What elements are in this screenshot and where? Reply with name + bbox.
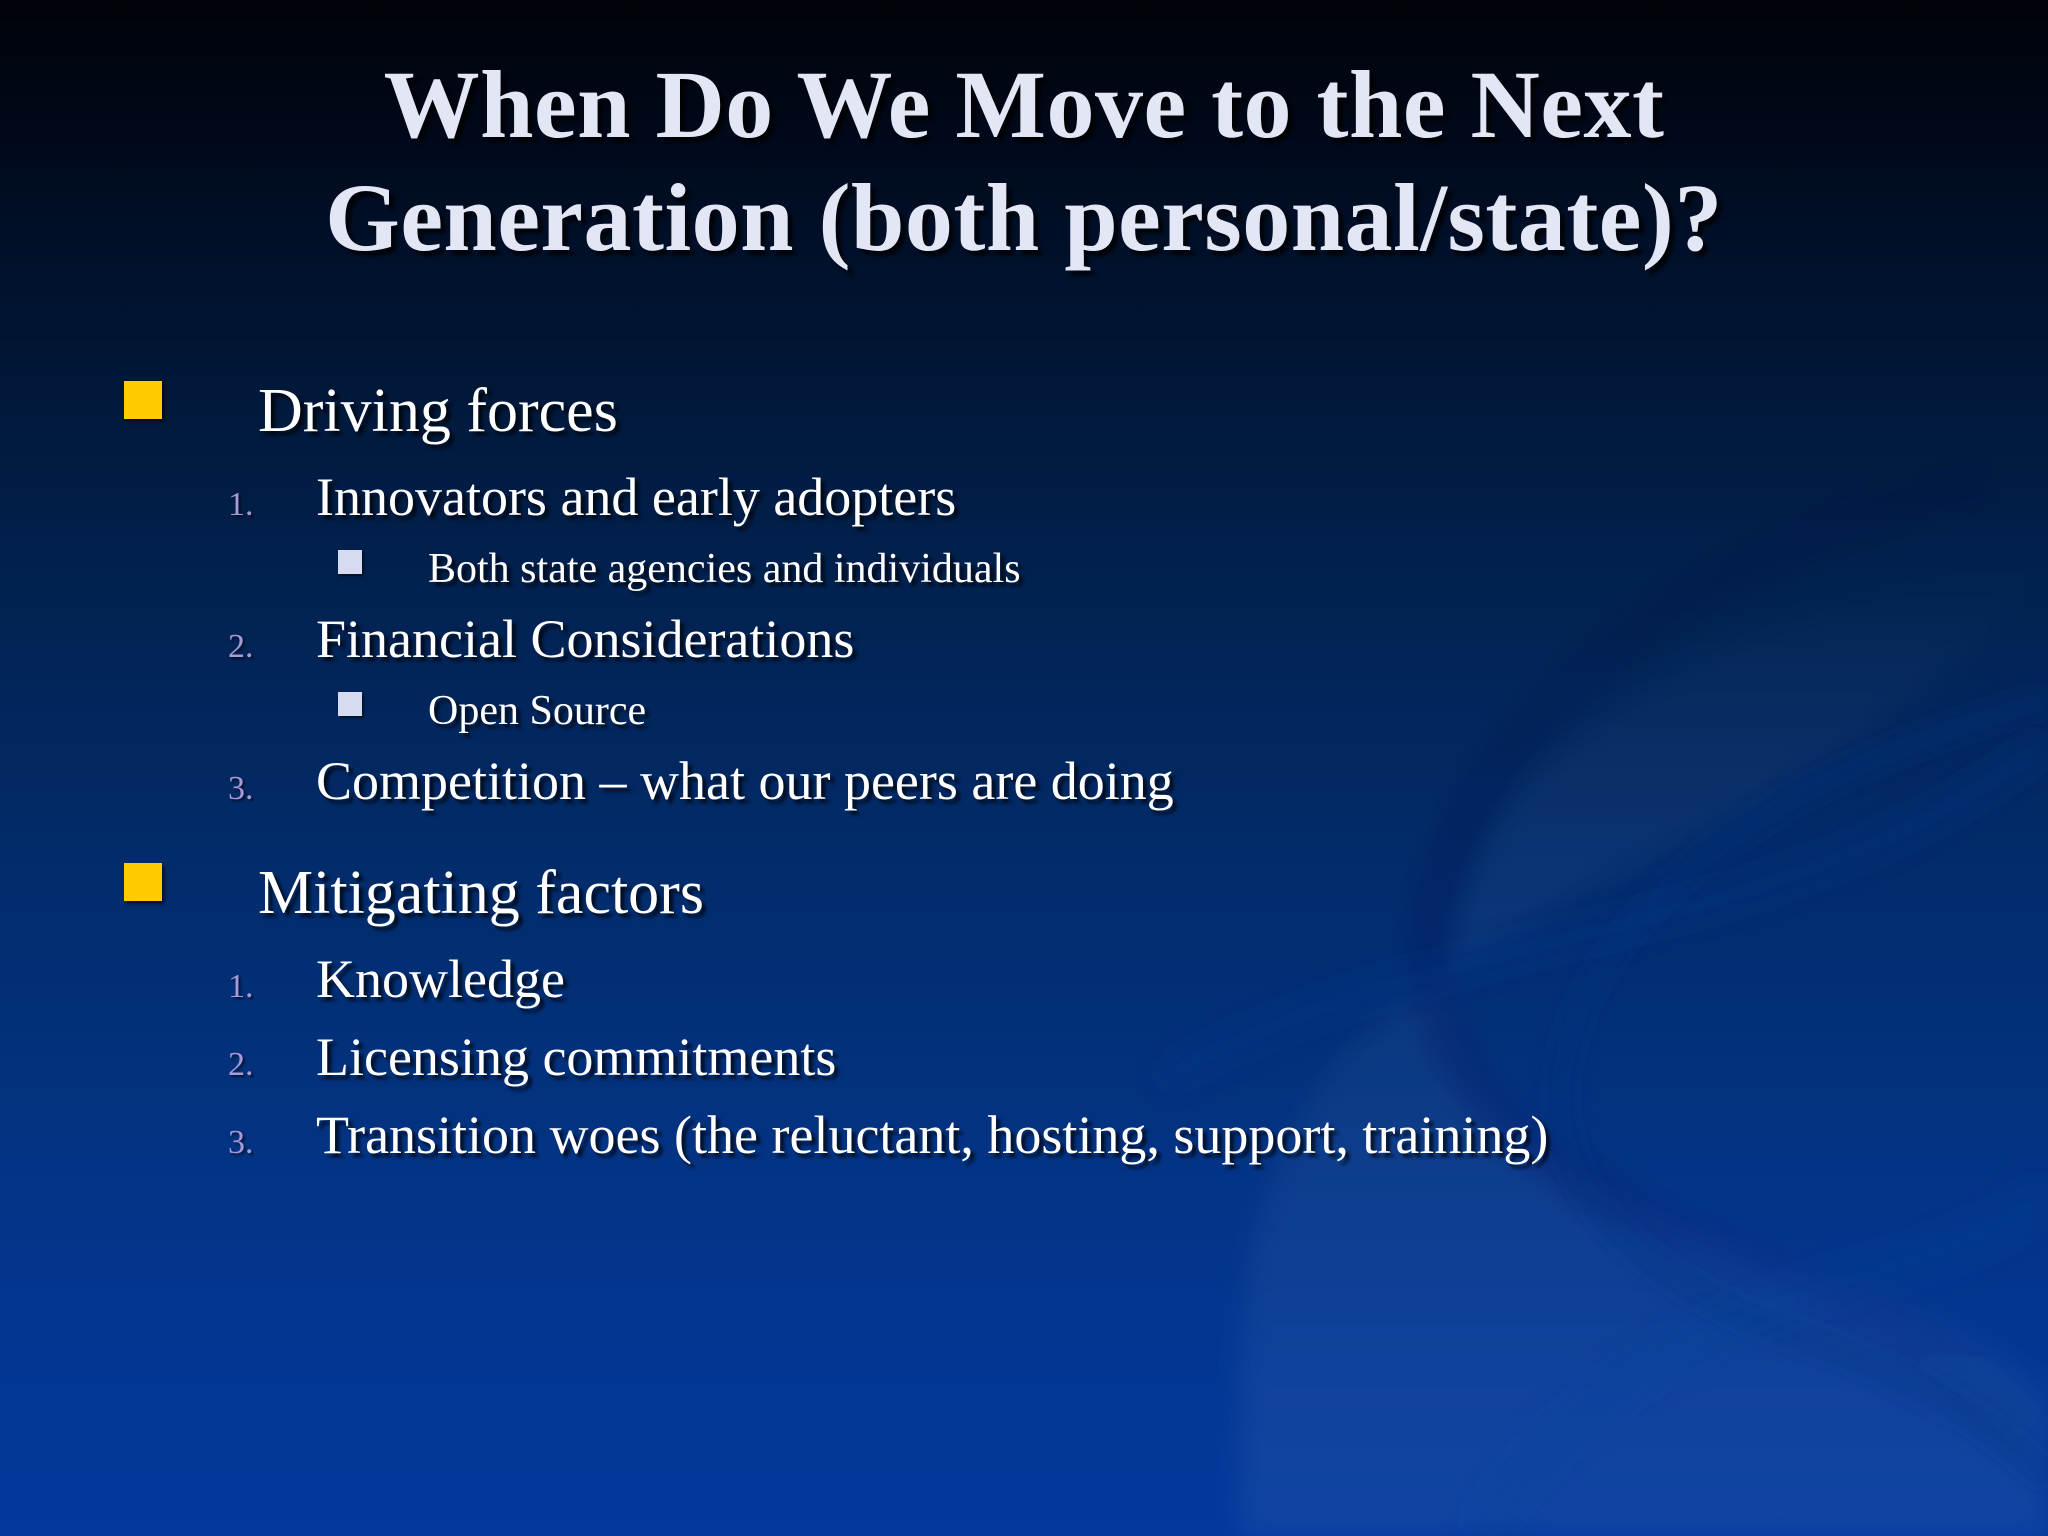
bullet-label: Both state agencies and individuals: [428, 548, 1021, 590]
list-number: 2.: [228, 630, 264, 664]
bullet-level1-mitigating-factors: Mitigating factors: [0, 862, 2048, 924]
bullet-level2-knowledge: 1. Knowledge: [0, 952, 2048, 1006]
section-spacer: [0, 832, 2048, 862]
list-number: 3.: [228, 1126, 264, 1160]
lavender-square-bullet-icon: [338, 692, 362, 716]
bullet-label: Licensing commitments: [316, 1030, 836, 1084]
bullet-level2-financial-considerations: 2. Financial Considerations: [0, 612, 2048, 666]
list-number: 3.: [228, 772, 264, 806]
lavender-square-bullet-icon: [338, 550, 362, 574]
bullet-label: Mitigating factors: [258, 862, 704, 924]
bullet-level1-driving-forces: Driving forces: [0, 380, 2048, 442]
bullet-level2-licensing-commitments: 2. Licensing commitments: [0, 1030, 2048, 1084]
slide-title: When Do We Move to the Next Generation (…: [0, 48, 2048, 275]
slide-body-content: Driving forces 1. Innovators and early a…: [0, 380, 2048, 1186]
bullet-label: Open Source: [428, 690, 646, 732]
bullet-level3-both-state-agencies: Both state agencies and individuals: [0, 548, 2048, 590]
bullet-label: Financial Considerations: [316, 612, 854, 666]
list-number: 1.: [228, 970, 264, 1004]
bullet-level2-competition: 3. Competition – what our peers are doin…: [0, 754, 2048, 808]
yellow-square-bullet-icon: [124, 863, 162, 901]
bullet-label: Knowledge: [316, 952, 565, 1006]
bullet-label: Transition woes (the reluctant, hosting,…: [316, 1108, 1548, 1162]
bullet-level2-transition-woes: 3. Transition woes (the reluctant, hosti…: [0, 1108, 2048, 1162]
bullet-label: Driving forces: [258, 380, 618, 442]
list-number: 1.: [228, 488, 264, 522]
bullet-level3-open-source: Open Source: [0, 690, 2048, 732]
list-number: 2.: [228, 1048, 264, 1082]
bullet-label: Innovators and early adopters: [316, 470, 956, 524]
yellow-square-bullet-icon: [124, 381, 162, 419]
bullet-level2-innovators: 1. Innovators and early adopters: [0, 470, 2048, 524]
bullet-label: Competition – what our peers are doing: [316, 754, 1174, 808]
presentation-slide: When Do We Move to the Next Generation (…: [0, 0, 2048, 1536]
